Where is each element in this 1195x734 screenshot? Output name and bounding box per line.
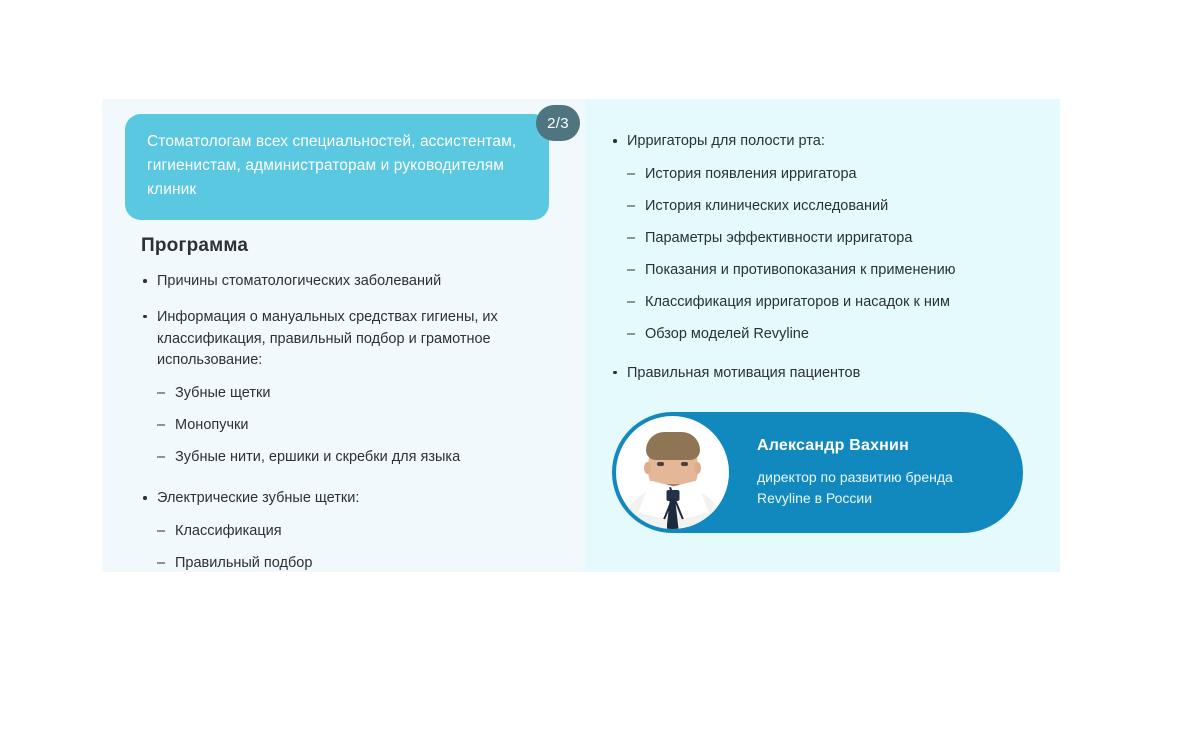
sub-list-item: Монопучки [157,415,561,436]
page-badge: 2/3 [536,105,580,141]
list-item-label: Причины стоматологических заболеваний [157,273,441,289]
sub-list-item: Параметры эффективности ирригатора [627,228,1041,249]
bullet-list: Ирригаторы для полости рта: История появ… [611,131,1041,385]
sub-list-item: Зубные щетки [157,383,561,404]
avatar-hair [646,432,700,460]
list-item-label: Правильная мотивация пациентов [627,365,860,381]
list-item-label: Информация о мануальных средствах гигиен… [157,309,498,369]
program-list-right: Ирригаторы для полости рта: История появ… [611,131,1041,399]
speaker-role-line-1: директор по развитию бренда [757,467,953,488]
sub-list: История появления ирригатора История кли… [627,164,1041,345]
sub-list-item: Показания и противопоказания к применени… [627,260,1041,281]
sub-list-item: Классификация [157,521,561,542]
slide-canvas: Стоматологам всех специальностей, ассист… [0,0,1195,734]
sub-list-item: История клинических исследований [627,196,1041,217]
page-title: Программа [141,235,248,257]
speaker-role: директор по развитию бренда Revyline в Р… [757,467,953,509]
speaker-name: Александр Вахнин [757,437,953,455]
list-item: Информация о мануальных средствах гигиен… [141,307,561,468]
program-list-left: Причины стоматологических заболеваний Ин… [141,271,561,572]
speaker-role-line-2: Revyline в России [757,488,953,509]
avatar [616,416,729,529]
slide-left-panel: Стоматологам всех специальностей, ассист… [102,99,585,572]
list-item: Ирригаторы для полости рта: История появ… [611,131,1041,345]
avatar-eye-right [681,462,688,466]
speaker-card: Александр Вахнин директор по развитию бр… [612,412,1023,533]
sub-list-item: Зубные нити, ершики и скребки для языка [157,447,561,468]
sub-list-item: Классификация ирригаторов и насадок к ни… [627,292,1041,313]
speaker-info: Александр Вахнин директор по развитию бр… [757,437,953,509]
sub-list: Классификация Правильный подбор Грамотно… [157,521,561,572]
list-item-label: Ирригаторы для полости рта: [627,133,825,149]
avatar-eye-left [657,462,664,466]
list-item: Правильная мотивация пациентов [611,363,1041,385]
list-item-label: Электрические зубные щетки: [157,490,359,506]
sub-list-item: История появления ирригатора [627,164,1041,185]
list-item: Электрические зубные щетки: Классификаци… [141,488,561,572]
audience-banner-text: Стоматологам всех специальностей, ассист… [147,130,527,202]
avatar-ear-left [644,462,651,474]
audience-banner: Стоматологам всех специальностей, ассист… [125,114,549,220]
bullet-list: Причины стоматологических заболеваний Ин… [141,271,561,572]
list-item: Причины стоматологических заболеваний [141,271,561,293]
sub-list: Зубные щетки Монопучки Зубные нити, ерши… [157,383,561,468]
avatar-ear-right [694,462,701,474]
slide-right-panel: Ирригаторы для полости рта: История появ… [585,99,1060,572]
sub-list-item: Обзор моделей Revyline [627,324,1041,345]
presentation-slide: Стоматологам всех специальностей, ассист… [102,99,1060,572]
sub-list-item: Правильный подбор [157,553,561,572]
